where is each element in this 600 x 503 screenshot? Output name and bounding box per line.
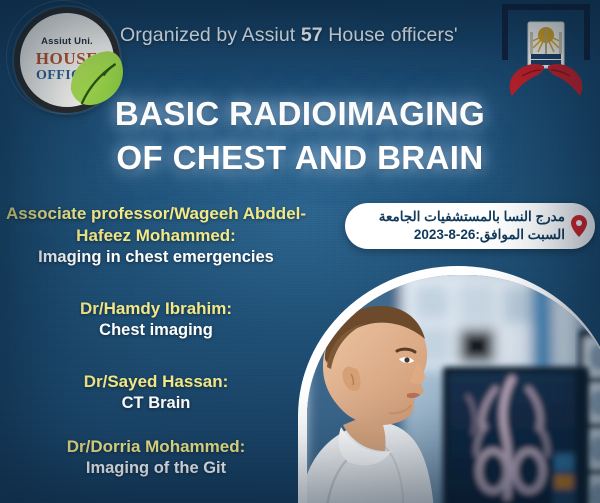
assiut-university-logo [496, 2, 596, 104]
location-pin-icon [571, 215, 587, 237]
speaker-item: Associate professor/Wageeh Abddel-Hafeez… [0, 203, 312, 268]
speaker-topic: Imaging of the Git [0, 458, 312, 479]
speaker-name: Dr/Sayed Hassan: [0, 371, 312, 393]
title-line-2: OF CHEST AND BRAIN [0, 136, 600, 180]
venue-date: السبت الموافق:26-8-2023 [379, 226, 565, 244]
photo-frame [298, 266, 600, 503]
organizer-prefix: Organized by Assiut [120, 24, 301, 46]
venue-date-badge: مدرج النسا بالمستشفيات الجامعة السبت الم… [345, 203, 595, 249]
organizer-number: 57 [301, 24, 323, 46]
speaker-item: Dr/Dorria Mohammed: Imaging of the Git [0, 436, 312, 479]
speaker-name: Associate professor/Wageeh Abddel-Hafeez… [0, 203, 312, 247]
organizer-suffix: House officers' [323, 24, 458, 46]
speaker-name: Dr/Dorria Mohammed: [0, 436, 312, 458]
badge-top-text: Assiut Uni. [41, 37, 93, 47]
venue-place: مدرج النسا بالمستشفيات الجامعة [379, 208, 565, 226]
speaker-name: Dr/Hamdy Ibrahim: [0, 298, 312, 320]
title-line-1: BASIC RADIOIMAGING [115, 95, 485, 132]
radiologist-photo [307, 275, 600, 503]
organizer-line: Organized by Assiut 57 House officers' [120, 24, 520, 47]
venue-text-block: مدرج النسا بالمستشفيات الجامعة السبت الم… [379, 208, 565, 244]
speaker-topic: CT Brain [0, 393, 312, 414]
speaker-topic: Chest imaging [0, 320, 312, 341]
speakers-list: Associate professor/Wageeh Abddel-Hafeez… [0, 203, 312, 480]
speaker-item: Dr/Sayed Hassan: CT Brain [0, 371, 312, 414]
speaker-topic: Imaging in chest emergencies [0, 247, 312, 268]
poster-title: BASIC RADIOIMAGING OF CHEST AND BRAIN [0, 92, 600, 179]
event-poster: Assiut Uni. HOUSE OFFICERS Organized by … [0, 0, 600, 503]
speaker-item: Dr/Hamdy Ibrahim: Chest imaging [0, 298, 312, 341]
